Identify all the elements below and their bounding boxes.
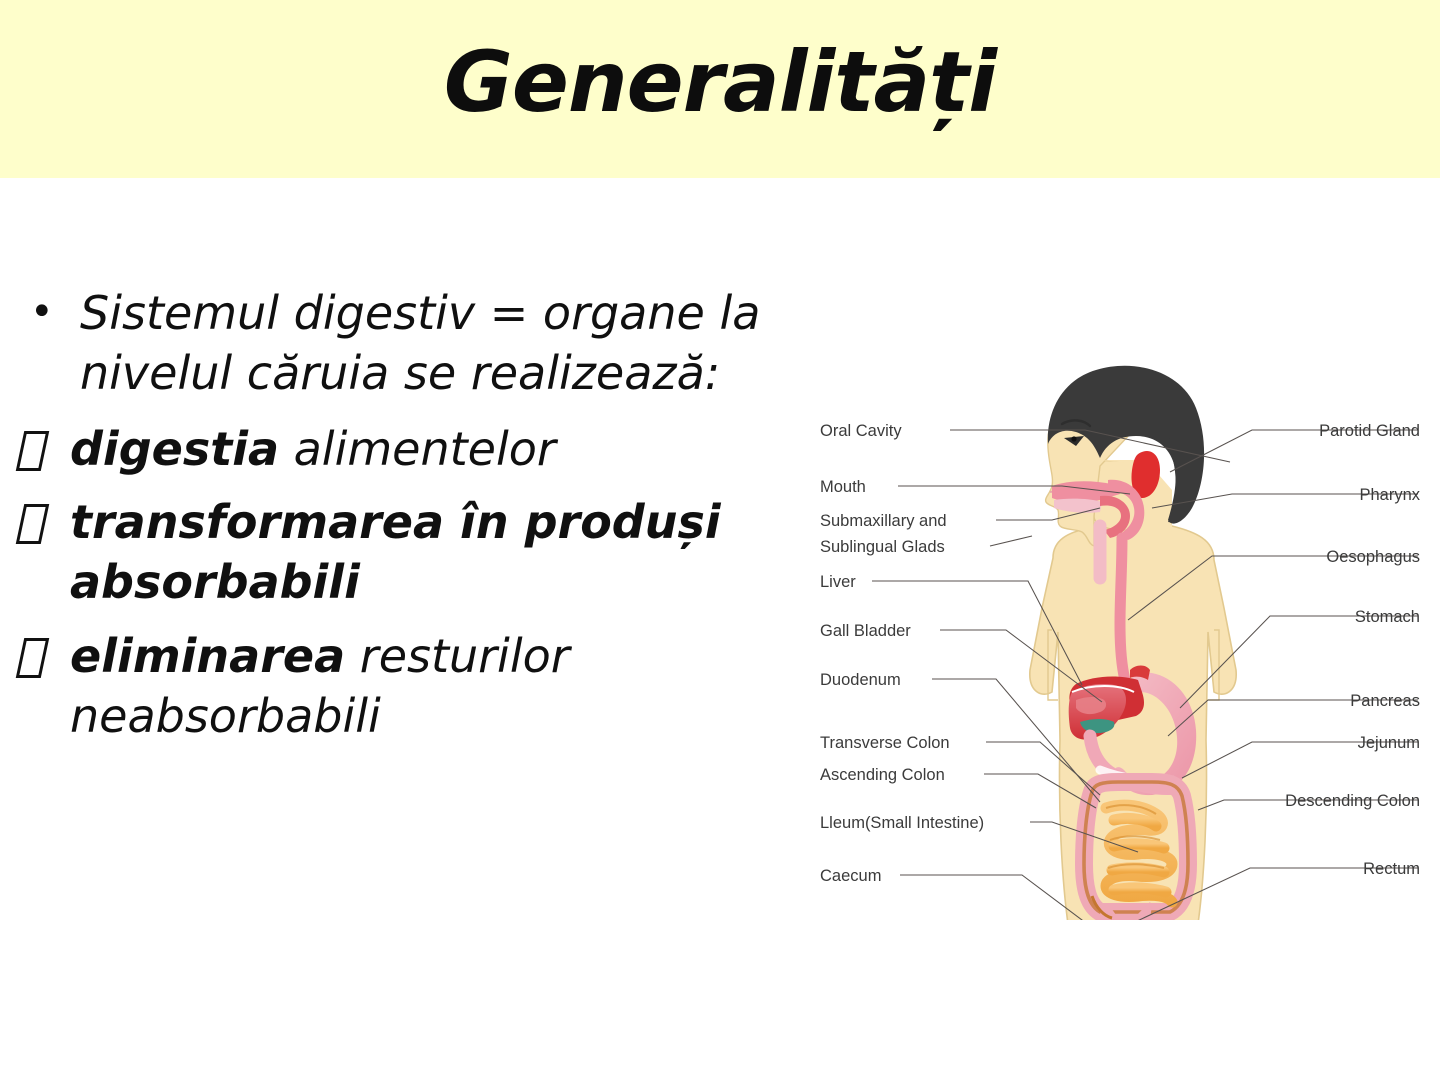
organ-label-jejunum: Jejunum xyxy=(1358,734,1420,752)
list-item-bold: digestia xyxy=(70,422,279,476)
small-intestine-shape xyxy=(1106,805,1172,902)
list-item: digestia alimentelor xyxy=(14,420,814,480)
page-title: Generalități xyxy=(0,0,1440,178)
organ-label-descending-colon: Descending Colon xyxy=(1285,792,1420,810)
digestive-system-diagram: Oral CavityMouthSubmaxillary andSublingu… xyxy=(800,340,1440,920)
list-item-bold: eliminarea xyxy=(70,629,345,683)
organ-label-duodenum: Duodenum xyxy=(820,671,901,689)
organ-label-lleum-small-intestine: Lleum(Small Intestine) xyxy=(820,814,984,832)
bullet-line-2: nivelul căruia se realizează: xyxy=(80,346,720,400)
title-band: Generalități xyxy=(0,0,1440,178)
leader-line-sublingual-glads xyxy=(990,536,1032,546)
bullet-line-1: Sistemul digestiv = organe la xyxy=(80,286,760,340)
organ-label-transverse-colon: Transverse Colon xyxy=(820,734,950,752)
organ-label-oesophagus: Oesophagus xyxy=(1326,548,1420,566)
organ-label-pancreas: Pancreas xyxy=(1350,692,1420,710)
bullet-tofu-box-icon xyxy=(14,420,70,480)
list-item-regular: alimentelor xyxy=(279,422,556,476)
list-item-label: transformarea în produși absorbabili xyxy=(70,493,814,613)
organ-label-submaxillary-and: Submaxillary and xyxy=(820,512,947,530)
organ-label-gall-bladder: Gall Bladder xyxy=(820,622,911,640)
bullet-dot-icon: • xyxy=(14,284,80,341)
organ-label-sublingual-glads: Sublingual Glads xyxy=(820,538,945,556)
list-item-bold: transformarea în produși absorbabili xyxy=(70,495,721,609)
organ-label-ascending-colon: Ascending Colon xyxy=(820,766,945,784)
bullet-tofu-box-icon xyxy=(14,493,70,553)
organ-label-pharynx: Pharynx xyxy=(1359,486,1420,504)
organ-label-mouth: Mouth xyxy=(820,478,866,496)
organ-label-liver: Liver xyxy=(820,573,856,591)
leader-line-caecum xyxy=(900,875,1090,920)
organ-label-oral-cavity: Oral Cavity xyxy=(820,422,902,440)
organ-label-parotid-gland: Parotid Gland xyxy=(1319,422,1420,440)
oesophagus-shape xyxy=(1120,538,1126,684)
bullet-list: • Sistemul digestiv = organe la nivelul … xyxy=(14,284,814,747)
bullet-tofu-box-icon xyxy=(14,627,70,687)
list-item-label: eliminarea resturilor neabsorbabili xyxy=(70,627,814,747)
organ-label-stomach: Stomach xyxy=(1355,608,1420,626)
list-item-label: digestia alimentelor xyxy=(70,420,814,480)
list-item: transformarea în produși absorbabili xyxy=(14,493,814,613)
organ-label-caecum: Caecum xyxy=(820,867,881,885)
organ-label-rectum: Rectum xyxy=(1363,860,1420,878)
list-item: • Sistemul digestiv = organe la nivelul … xyxy=(14,284,814,404)
list-item: eliminarea resturilor neabsorbabili xyxy=(14,627,814,747)
list-item-label: Sistemul digestiv = organe la nivelul că… xyxy=(80,284,814,404)
